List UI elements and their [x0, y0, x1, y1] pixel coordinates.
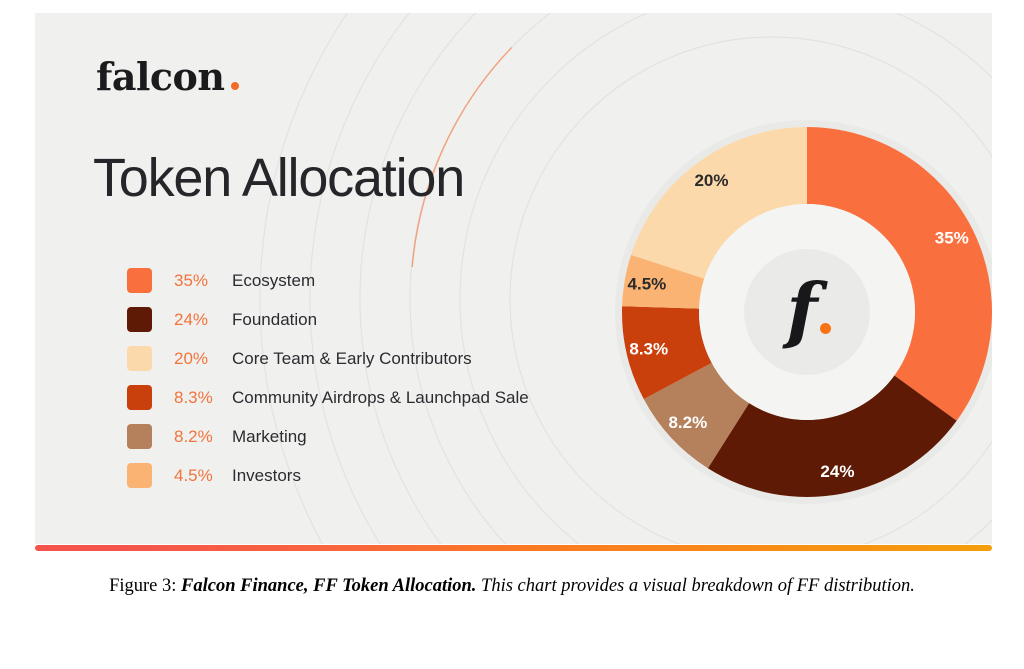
legend-swatch-foundation — [127, 307, 152, 332]
legend-percent: 8.3% — [174, 388, 232, 408]
caption-figure-number: Figure 3: — [109, 576, 176, 596]
legend-item: 20% Core Team & Early Contributors — [127, 339, 529, 378]
legend-swatch-ecosystem — [127, 268, 152, 293]
caption-title: Falcon Finance, FF Token Allocation. — [181, 576, 476, 596]
legend-swatch-core-team — [127, 346, 152, 371]
legend-swatch-marketing — [127, 424, 152, 449]
legend-label: Investors — [232, 466, 301, 486]
brand-wordmark: falcon — [96, 58, 225, 96]
donut-slice-label: 4.5% — [628, 275, 667, 294]
legend-item: 35% Ecosystem — [127, 261, 529, 300]
legend-swatch-investors — [127, 463, 152, 488]
legend-item: 8.2% Marketing — [127, 417, 529, 456]
legend-percent: 8.2% — [174, 427, 232, 447]
legend-percent: 4.5% — [174, 466, 232, 486]
figure-card: falcon Token Allocation 35% Ecosystem 24… — [35, 13, 992, 544]
donut-slice-label: 8.3% — [629, 339, 668, 358]
donut-center-disc — [744, 249, 870, 375]
legend-label: Marketing — [232, 427, 307, 447]
legend-label: Foundation — [232, 310, 317, 330]
donut-chart: 35%24%8.2%8.3%4.5%20% f — [592, 97, 992, 527]
brand-dot-icon — [231, 82, 239, 90]
legend-percent: 20% — [174, 349, 232, 369]
page-title: Token Allocation — [93, 150, 464, 207]
legend-label: Ecosystem — [232, 271, 315, 291]
donut-slice-label: 24% — [820, 462, 854, 481]
legend-item: 4.5% Investors — [127, 456, 529, 495]
legend-percent: 35% — [174, 271, 232, 291]
donut-slice-label: 35% — [935, 229, 969, 248]
legend-item: 8.3% Community Airdrops & Launchpad Sale — [127, 378, 529, 417]
legend-item: 24% Foundation — [127, 300, 529, 339]
legend-label: Community Airdrops & Launchpad Sale — [232, 388, 529, 408]
caption-description: This chart provides a visual breakdown o… — [481, 576, 915, 596]
legend-label: Core Team & Early Contributors — [232, 349, 472, 369]
figure-caption: Figure 3: Falcon Finance, FF Token Alloc… — [52, 572, 972, 601]
chart-legend: 35% Ecosystem 24% Foundation 20% Core Te… — [127, 261, 529, 495]
brand-logo: falcon — [96, 58, 239, 114]
donut-slice-label: 20% — [694, 171, 728, 190]
accent-gradient-bar — [35, 545, 992, 551]
legend-swatch-airdrops — [127, 385, 152, 410]
donut-slice-label: 8.2% — [668, 413, 707, 432]
legend-percent: 24% — [174, 310, 232, 330]
donut-chart-svg: 35%24%8.2%8.3%4.5%20% — [592, 97, 992, 527]
